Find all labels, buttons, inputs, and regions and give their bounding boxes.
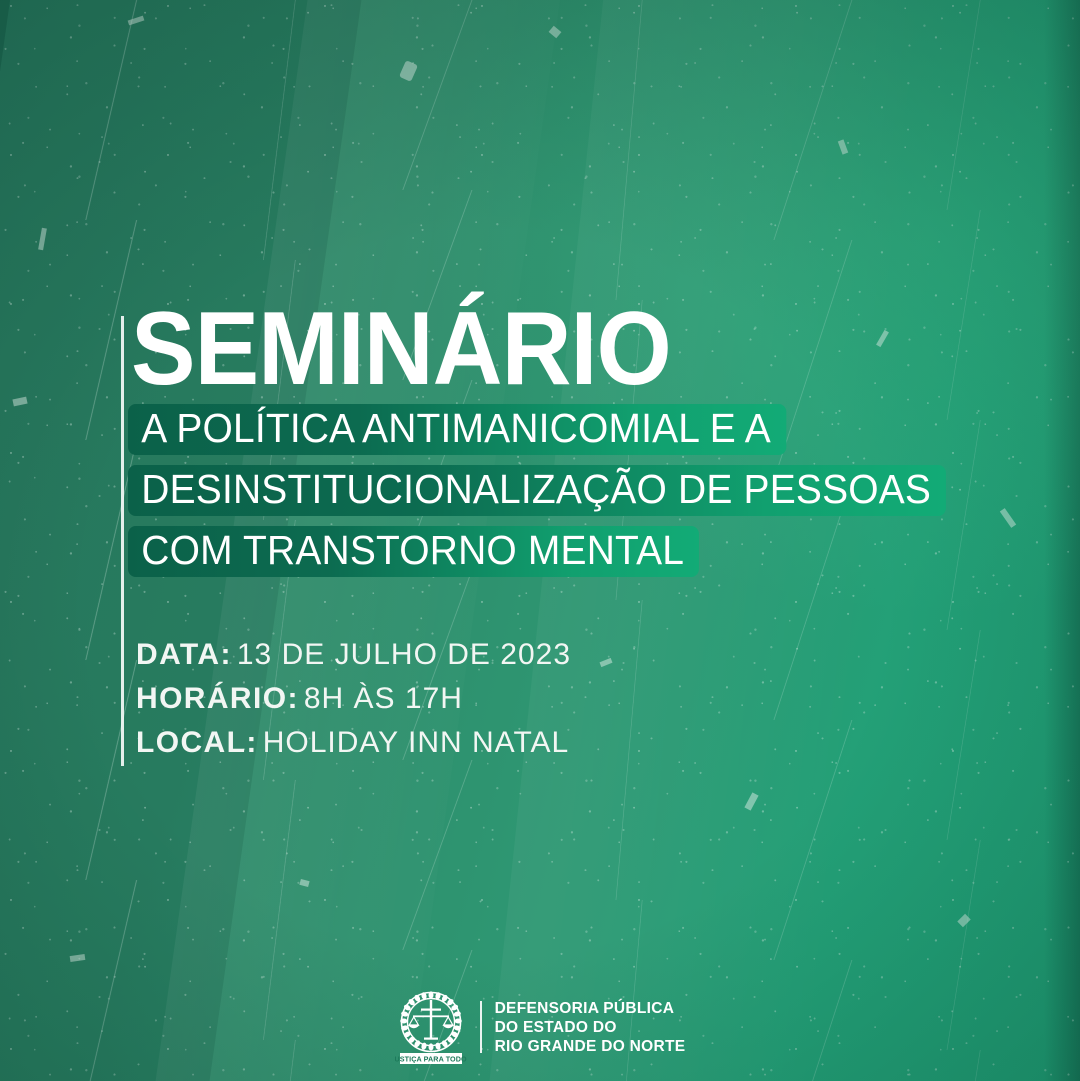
detail-value-time: 8H ÀS 17H — [304, 682, 463, 715]
subtitle-line-3: COM TRANSTORNO MENTAL — [128, 526, 699, 577]
detail-label-time: HORÁRIO: — [136, 682, 299, 715]
subtitle-line-2: DESINSTITUCIONALIZAÇÃO DE PESSOAS — [128, 465, 946, 516]
scales-of-justice-emblem-icon: JUSTIÇA PARA TODOS — [395, 989, 467, 1065]
vertical-accent-rule — [121, 316, 124, 766]
emblem-motto-text: JUSTIÇA PARA TODOS — [395, 1054, 467, 1063]
logo-divider — [480, 1001, 482, 1053]
detail-value-date: 13 DE JULHO DE 2023 — [237, 638, 571, 671]
detail-row-date: DATA:13 DE JULHO DE 2023 — [136, 633, 571, 677]
subtitle-block: A POLÍTICA ANTIMANICOMIAL E A DESINSTITU… — [128, 404, 989, 587]
institution-name: DEFENSORIA PÚBLICA DO ESTADO DO RIO GRAN… — [495, 999, 686, 1056]
detail-row-time: HORÁRIO:8H ÀS 17H — [136, 677, 571, 721]
page-title: SEMINÁRIO — [131, 297, 671, 401]
detail-value-location: HOLIDAY INN NATAL — [263, 726, 570, 759]
institution-name-line-1: DEFENSORIA PÚBLICA — [495, 999, 686, 1018]
institution-logo: JUSTIÇA PARA TODOS DEFENSORIA PÚBLICA DO… — [395, 989, 686, 1065]
detail-row-location: LOCAL:HOLIDAY INN NATAL — [136, 721, 571, 765]
detail-label-date: DATA: — [136, 638, 232, 671]
institution-name-line-3: RIO GRANDE DO NORTE — [495, 1037, 686, 1056]
event-poster: SEMINÁRIO A POLÍTICA ANTIMANICOMIAL E A … — [0, 0, 1080, 1081]
subtitle-line-1: A POLÍTICA ANTIMANICOMIAL E A — [128, 404, 786, 455]
detail-label-location: LOCAL: — [136, 726, 258, 759]
footer: JUSTIÇA PARA TODOS DEFENSORIA PÚBLICA DO… — [0, 989, 1080, 1065]
poster-content: SEMINÁRIO A POLÍTICA ANTIMANICOMIAL E A … — [0, 0, 1080, 1081]
institution-name-line-2: DO ESTADO DO — [495, 1018, 686, 1037]
event-details: DATA:13 DE JULHO DE 2023 HORÁRIO:8H ÀS 1… — [136, 633, 571, 765]
